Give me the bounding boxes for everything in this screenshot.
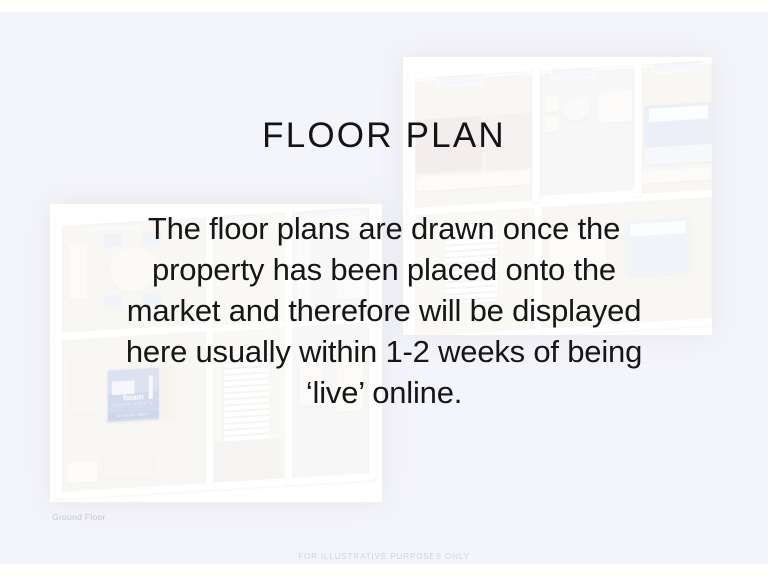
body-copy: The floor plans are drawn once the prope… — [50, 208, 718, 413]
body-line: market and therefore will be displayed — [50, 290, 718, 331]
illustrative-purposes-note: FOR ILLUSTRATIVE PURPOSES ONLY — [0, 552, 768, 561]
toilet-icon — [545, 95, 559, 112]
body-line: here usually within 1-2 weeks of being — [50, 331, 718, 372]
body-line: property has been placed onto the — [50, 249, 718, 290]
ground-floor-caption: Ground Floor — [52, 512, 106, 522]
body-line: ‘live’ online. — [50, 372, 718, 413]
sofa-icon — [104, 448, 153, 480]
armchair-icon — [67, 461, 98, 483]
page-title: FLOOR PLAN — [0, 116, 768, 156]
hall-floor-patch — [214, 438, 283, 483]
body-line: The floor plans are drawn once the — [50, 208, 718, 249]
floor-plan-slide: beam ESTATE AGENTS Tel: 01754 766877 — [0, 0, 768, 576]
slide-canvas: beam ESTATE AGENTS Tel: 01754 766877 — [0, 12, 768, 564]
